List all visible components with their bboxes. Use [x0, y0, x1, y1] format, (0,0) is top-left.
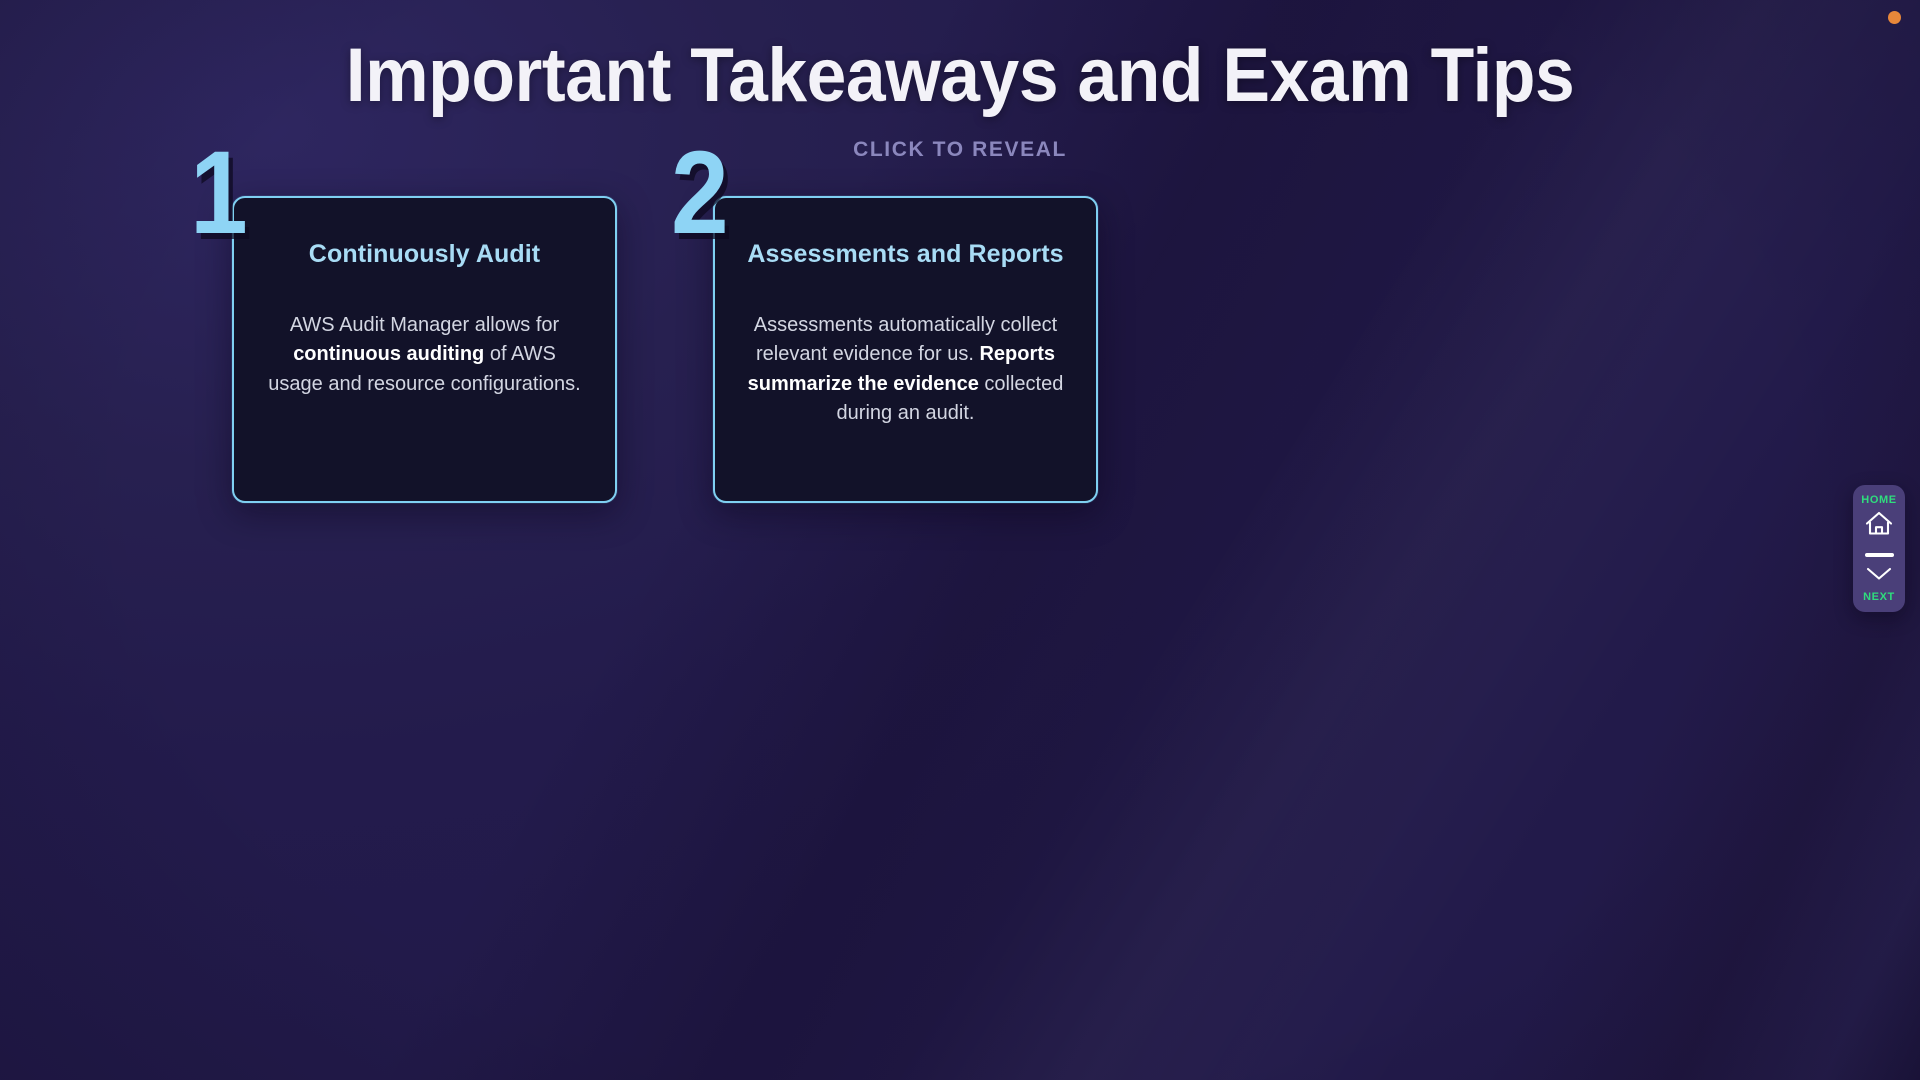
page-header: Important Takeaways and Exam Tips CLICK … [0, 0, 1920, 162]
takeaway-card-1-wrapper[interactable]: 1 Continuously Audit AWS Audit Manager a… [232, 196, 617, 503]
card-number-1: 1 [190, 134, 248, 252]
background-vignette [0, 0, 1920, 1080]
house-icon[interactable] [1864, 510, 1894, 542]
page-subtitle: CLICK TO REVEAL [0, 138, 1920, 162]
card-body-1: AWS Audit Manager allows for continuous … [264, 311, 585, 400]
card-body-2: Assessments automatically collect releva… [745, 311, 1066, 429]
card-number-2: 2 [671, 134, 729, 252]
chevron-down-icon[interactable] [1864, 565, 1894, 587]
card-title-1: Continuously Audit [264, 238, 585, 271]
nav-divider [1865, 553, 1894, 557]
takeaway-card-2[interactable]: Assessments and Reports Assessments auto… [713, 196, 1098, 503]
card-title-2: Assessments and Reports [745, 238, 1066, 271]
takeaway-card-list: 1 Continuously Audit AWS Audit Manager a… [232, 196, 1098, 503]
page-title: Important Takeaways and Exam Tips [58, 38, 1863, 114]
takeaway-card-1[interactable]: Continuously Audit AWS Audit Manager all… [232, 196, 617, 503]
slide-navigation-widget: HOME NEXT [1853, 485, 1905, 612]
home-label: HOME [1861, 494, 1896, 506]
takeaway-card-2-wrapper[interactable]: 2 Assessments and Reports Assessments au… [713, 196, 1098, 503]
next-label: NEXT [1863, 591, 1895, 603]
